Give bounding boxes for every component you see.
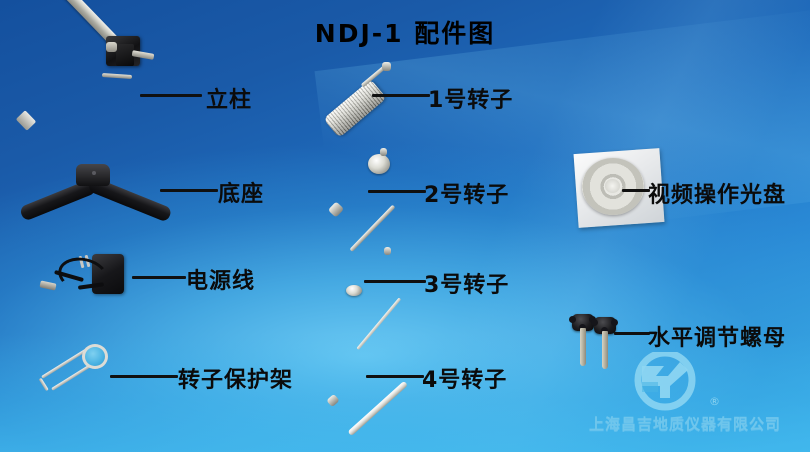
leader-line-power-cord <box>132 276 186 279</box>
part-label-level-nut: 水平调节螺母 <box>648 320 786 352</box>
leader-line-rotor-4 <box>366 375 424 378</box>
leader-line-rotor-2 <box>368 190 426 193</box>
part-label-base: 底座 <box>218 176 264 208</box>
part-label-column: 立柱 <box>206 82 252 114</box>
accessory-diagram-image: NDJ-1 配件图 立柱 底座 电源线 转子保护架 <box>0 0 810 452</box>
leader-line-video-disc <box>622 189 650 192</box>
part-image-column <box>10 30 150 140</box>
part-label-video-disc: 视频操作光盘 <box>648 177 786 209</box>
part-label-rotor-guard: 转子保护架 <box>178 362 293 394</box>
cy-circle-logo-icon: ® <box>612 352 718 412</box>
part-image-base <box>14 150 174 206</box>
leader-line-rotor-guard <box>110 375 178 378</box>
leader-line-rotor-1 <box>372 94 430 97</box>
part-label-rotor-2: 2号转子 <box>424 177 509 209</box>
part-image-rotor-guard <box>40 342 120 404</box>
part-label-rotor-4: 4号转子 <box>422 362 507 394</box>
leader-line-level-nut <box>614 332 650 335</box>
part-label-rotor-1: 1号转子 <box>428 82 513 114</box>
leader-line-rotor-3 <box>364 280 426 283</box>
part-image-rotor-1 <box>322 60 402 138</box>
part-image-rotor-2 <box>324 148 406 230</box>
leader-line-column <box>140 94 202 97</box>
part-label-rotor-3: 3号转子 <box>424 267 509 299</box>
part-image-rotor-3 <box>326 245 408 325</box>
registered-trademark-symbol: ® <box>709 395 720 408</box>
part-label-power-cord: 电源线 <box>186 263 255 295</box>
leader-line-base <box>160 189 218 192</box>
company-name: 上海昌吉地质仪器有限公司 <box>560 413 810 434</box>
